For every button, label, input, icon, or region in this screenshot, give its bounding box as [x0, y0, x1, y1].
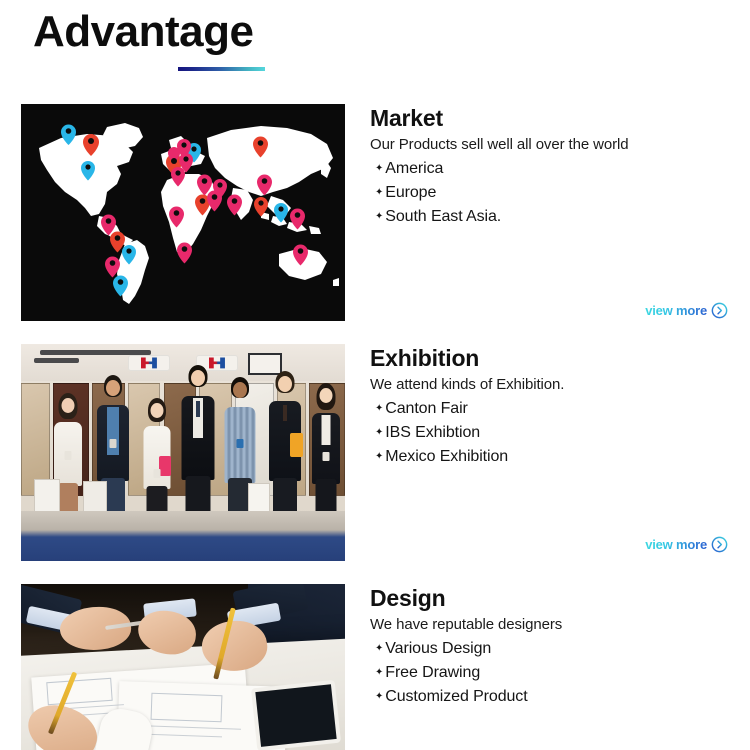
diamond-bullet-icon: ✦ [375, 644, 383, 654]
chevron-right-circle-icon [711, 536, 728, 553]
booth-logo-left [128, 355, 170, 371]
list-item-label: South East Asia. [385, 205, 501, 229]
advantage-row-design: Design We have reputable designers ✦Vari… [0, 584, 750, 750]
orange-folder [290, 433, 303, 457]
list-item-label: Europe [385, 181, 436, 205]
list-item-label: America [385, 157, 443, 181]
chevron-right-circle-icon [711, 302, 728, 319]
list-item-label: Customized Product [385, 685, 527, 709]
exhibition-booth-photo-graphic [21, 344, 345, 561]
list-item: ✦Canton Fair [370, 397, 742, 421]
list-item: ✦Mexico Exhibition [370, 445, 742, 469]
page-title: Advantage [33, 6, 253, 58]
view-more-link-exhibition[interactable]: view more [645, 536, 728, 553]
list-item-label: Mexico Exhibition [385, 445, 508, 469]
design-title: Design [370, 584, 742, 613]
tablet-device [251, 679, 341, 750]
design-image[interactable] [21, 584, 345, 750]
list-item: ✦IBS Exhibtion [370, 421, 742, 445]
diamond-bullet-icon: ✦ [375, 404, 383, 414]
market-subtitle: Our Products sell well all over the worl… [370, 133, 742, 156]
list-item: ✦America [370, 157, 742, 181]
pink-folder [159, 456, 171, 476]
list-item: ✦South East Asia. [370, 205, 742, 229]
diamond-bullet-icon: ✦ [375, 188, 383, 198]
view-more-link-market[interactable]: view more [645, 302, 728, 319]
designers-drawing-photo-graphic [21, 584, 345, 750]
list-item: ✦Various Design [370, 637, 742, 661]
market-text-column: Market Our Products sell well all over t… [370, 104, 742, 229]
diamond-bullet-icon: ✦ [375, 668, 383, 678]
exhibition-title: Exhibition [370, 344, 742, 373]
list-item-label: Various Design [385, 637, 491, 661]
exhibition-text-column: Exhibition We attend kinds of Exhibition… [370, 344, 742, 469]
list-item-label: Canton Fair [385, 397, 468, 421]
design-text-column: Design We have reputable designers ✦Vari… [370, 584, 742, 709]
list-item-label: Free Drawing [385, 661, 480, 685]
advantage-page: Advantage [0, 0, 750, 750]
list-item: ✦Europe [370, 181, 742, 205]
diamond-bullet-icon: ✦ [375, 452, 383, 462]
list-item: ✦Customized Product [370, 685, 742, 709]
page-header: Advantage [33, 6, 253, 58]
view-more-label: view more [645, 537, 707, 552]
market-bullet-list: ✦America ✦Europe ✦South East Asia. [370, 157, 742, 229]
advantage-row-market: Market Our Products sell well all over t… [0, 104, 750, 321]
exhibition-subtitle: We attend kinds of Exhibition. [370, 373, 742, 396]
diamond-bullet-icon: ✦ [375, 428, 383, 438]
design-bullet-list: ✦Various Design ✦Free Drawing ✦Customize… [370, 637, 742, 709]
exhibition-image[interactable] [21, 344, 345, 561]
design-subtitle: We have reputable designers [370, 613, 742, 636]
market-image[interactable] [21, 104, 345, 321]
world-map-graphic [21, 104, 345, 321]
list-item: ✦Free Drawing [370, 661, 742, 685]
diamond-bullet-icon: ✦ [375, 212, 383, 222]
diamond-bullet-icon: ✦ [375, 692, 383, 702]
market-title: Market [370, 104, 742, 133]
diamond-bullet-icon: ✦ [375, 164, 383, 174]
exhibition-bullet-list: ✦Canton Fair ✦IBS Exhibtion ✦Mexico Exhi… [370, 397, 742, 469]
list-item-label: IBS Exhibtion [385, 421, 480, 445]
advantage-row-exhibition: Exhibition We attend kinds of Exhibition… [0, 344, 750, 561]
view-more-label: view more [645, 303, 707, 318]
title-gradient-underline [178, 67, 265, 71]
